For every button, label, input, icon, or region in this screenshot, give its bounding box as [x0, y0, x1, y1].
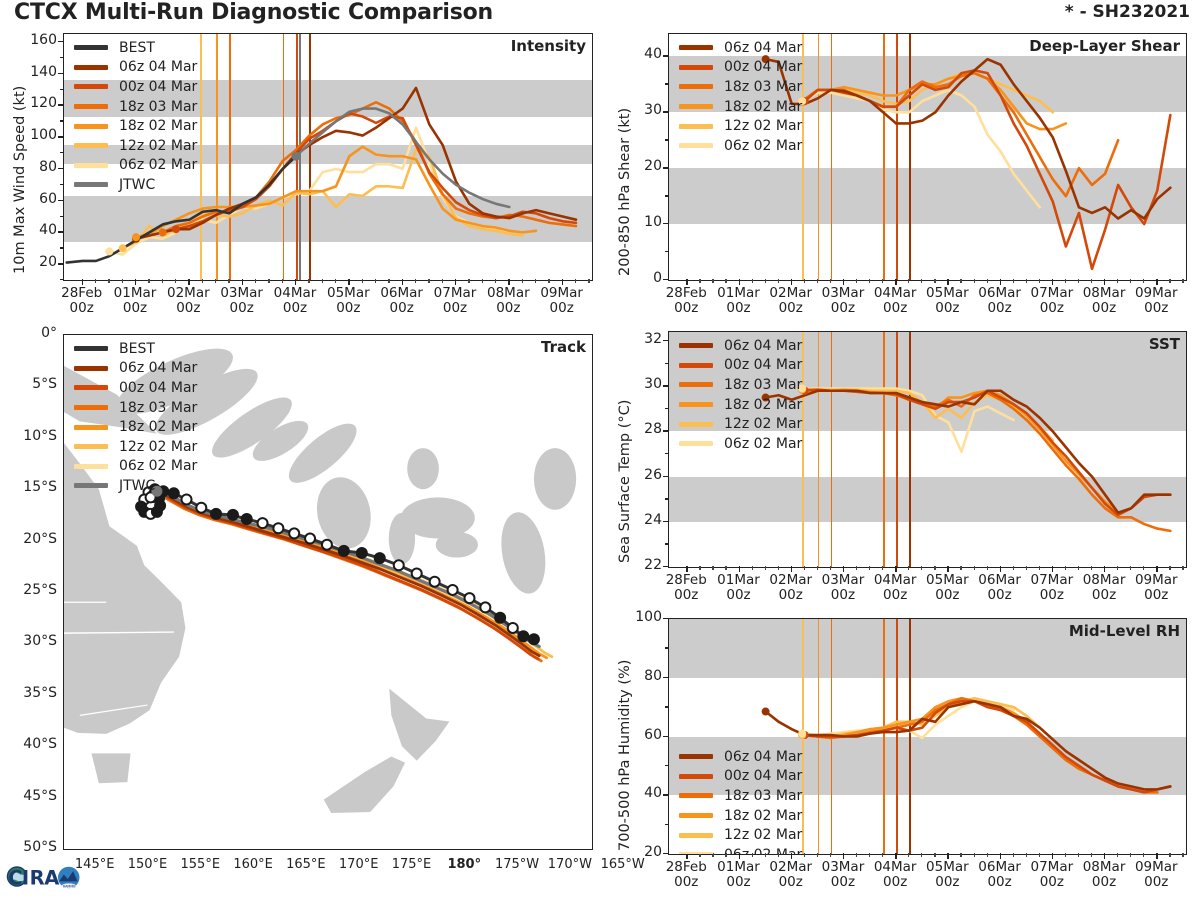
x-minor-tick — [725, 566, 726, 570]
svg-text:R: R — [30, 866, 45, 889]
x-minor-tick — [268, 279, 269, 283]
x-tick-mark — [1052, 566, 1053, 572]
y-tick-mark — [663, 167, 669, 168]
y-tick-label: 26 — [622, 467, 662, 483]
legend-swatch-icon — [679, 143, 713, 148]
x-tick-hour: 00z — [1144, 874, 1168, 890]
legend-item-12z-02-mar[interactable]: 12z 02 Mar — [72, 437, 197, 457]
legend-item-00z-04-mar[interactable]: 00z 04 Mar — [72, 77, 197, 97]
legend-swatch-icon — [74, 346, 108, 351]
x-minor-tick — [856, 853, 857, 857]
x-minor-tick — [1182, 279, 1183, 283]
y-minor-tick — [665, 408, 669, 409]
legend-swatch-icon — [74, 104, 108, 109]
x-minor-tick — [712, 566, 713, 570]
legend-swatch-icon — [679, 754, 713, 759]
y-tick-mark — [58, 73, 64, 74]
panel-shear: Deep-Layer Shear 06z 04 Mar00z 04 Mar18z… — [668, 33, 1187, 281]
x-tick-date: 02Mar — [769, 572, 812, 588]
track-marker — [448, 585, 458, 595]
legend-label: 00z 04 Mar — [119, 380, 197, 396]
x-tick-mark — [242, 279, 243, 285]
x-minor-tick — [535, 279, 536, 283]
series-line — [802, 701, 1014, 738]
x-tick-mark — [739, 566, 740, 572]
x-tick-hour: 00z — [1040, 300, 1064, 316]
x-minor-tick — [1169, 279, 1170, 283]
series-init-marker — [159, 228, 167, 236]
x-minor-tick — [588, 279, 589, 283]
legend-label: 06z 02 Mar — [724, 138, 802, 154]
x-minor-tick — [699, 566, 700, 570]
legend-item-best[interactable]: BEST — [72, 339, 197, 359]
y-minor-tick — [665, 83, 669, 84]
legend-item-18z-02-mar[interactable]: 18z 02 Mar — [677, 806, 802, 826]
track-marker — [228, 510, 238, 520]
track-marker — [339, 546, 349, 556]
x-tick-date: 07Mar — [1031, 572, 1074, 588]
track-y-tick-label: 20°S — [5, 531, 57, 547]
legend-item-18z-03-mar[interactable]: 18z 03 Mar — [72, 398, 197, 418]
x-tick-mark — [1156, 279, 1157, 285]
x-tick-hour: 00z — [779, 300, 803, 316]
x-minor-tick — [725, 279, 726, 283]
x-minor-tick — [1091, 279, 1092, 283]
track-marker — [518, 631, 528, 641]
x-tick-date: 09Mar — [1135, 285, 1178, 301]
svg-text:I: I — [22, 866, 29, 889]
x-minor-tick — [908, 566, 909, 570]
x-tick-mark — [686, 566, 687, 572]
x-tick-mark — [947, 853, 948, 859]
panel-sst: SST 06z 04 Mar00z 04 Mar18z 03 Mar18z 02… — [668, 331, 1187, 568]
legend-label: JTWC — [119, 478, 155, 494]
x-tick-mark — [455, 279, 456, 285]
x-minor-tick — [778, 566, 779, 570]
y-tick-mark — [663, 476, 669, 477]
track-y-tick-label: 10°S — [5, 428, 57, 444]
x-minor-tick — [1026, 853, 1027, 857]
x-tick-date: 09Mar — [540, 285, 583, 301]
y-minor-tick — [60, 216, 64, 217]
y-tick-mark — [58, 104, 64, 105]
x-minor-tick — [1065, 853, 1066, 857]
y-minor-tick — [665, 543, 669, 544]
x-minor-tick — [934, 853, 935, 857]
y-tick-mark — [663, 223, 669, 224]
x-minor-tick — [162, 279, 163, 283]
x-tick-hour: 00z — [1144, 587, 1168, 603]
x-tick-hour: 00z — [390, 300, 414, 316]
y-tick-mark — [663, 736, 669, 737]
y-minor-tick — [665, 251, 669, 252]
legend-label: BEST — [119, 341, 155, 357]
legend-label: 12z 02 Mar — [724, 827, 802, 843]
x-tick-date: 07Mar — [1031, 285, 1074, 301]
track-marker — [412, 569, 422, 579]
legend-label: 12z 02 Mar — [119, 439, 197, 455]
x-tick-mark — [739, 279, 740, 285]
legend-label: 06z 02 Mar — [119, 157, 197, 173]
y-tick-label: 60 — [17, 191, 57, 207]
x-tick-date: 07Mar — [434, 285, 477, 301]
legend-item-12z-02-mar[interactable]: 12z 02 Mar — [72, 136, 197, 156]
x-tick-mark — [791, 566, 792, 572]
x-minor-tick — [1130, 279, 1131, 283]
x-minor-tick — [921, 853, 922, 857]
x-tick-date: 05Mar — [926, 859, 969, 875]
legend-item-06z-02-mar[interactable]: 06z 02 Mar — [677, 845, 802, 855]
y-tick-mark — [663, 853, 669, 854]
x-tick-date: 02Mar — [167, 285, 210, 301]
legend-swatch-icon — [679, 833, 713, 838]
y-tick-label: 120 — [17, 95, 57, 111]
x-tick-hour: 00z — [726, 874, 750, 890]
y-tick-mark — [663, 521, 669, 522]
legend-label: 00z 04 Mar — [119, 79, 197, 95]
legend-item-jtwc[interactable]: JTWC — [72, 175, 197, 195]
y-tick-mark — [663, 430, 669, 431]
legend-swatch-icon — [74, 464, 108, 469]
x-minor-tick — [921, 279, 922, 283]
x-tick-date: 06Mar — [978, 859, 1021, 875]
x-minor-tick — [830, 279, 831, 283]
x-minor-tick — [202, 279, 203, 283]
x-minor-tick — [108, 279, 109, 283]
x-minor-tick — [960, 566, 961, 570]
legend-item-06z-04-mar[interactable]: 06z 04 Mar — [72, 58, 197, 78]
track-y-tick-label: 30°S — [5, 633, 57, 649]
x-minor-tick — [908, 279, 909, 283]
x-tick-hour: 00z — [831, 587, 855, 603]
x-minor-tick — [335, 279, 336, 283]
x-tick-mark — [1000, 853, 1001, 859]
legend-label: 06z 02 Mar — [724, 847, 802, 855]
svg-text:A: A — [44, 866, 60, 889]
x-tick-mark — [295, 279, 296, 285]
y-tick-label: 20 — [622, 158, 662, 174]
x-minor-tick — [712, 279, 713, 283]
x-tick-hour: 00z — [336, 300, 360, 316]
x-tick-date: 01Mar — [114, 285, 157, 301]
x-tick-hour: 00z — [935, 300, 959, 316]
sst-panel-title: SST — [1149, 335, 1180, 353]
track-marker — [242, 514, 252, 524]
legend-label: 18z 03 Mar — [119, 99, 197, 115]
track-y-tick-label: 50°S — [5, 839, 57, 855]
x-tick-hour: 00z — [935, 874, 959, 890]
x-tick-date: 08Mar — [1083, 285, 1126, 301]
y-tick-label: 32 — [622, 331, 662, 347]
x-minor-tick — [882, 566, 883, 570]
track-marker — [273, 523, 283, 533]
legend-swatch-icon — [74, 65, 108, 70]
y-minor-tick — [665, 453, 669, 454]
x-tick-hour: 00z — [1092, 874, 1116, 890]
x-tick-mark — [1104, 279, 1105, 285]
x-tick-hour: 00z — [726, 300, 750, 316]
x-minor-tick — [1143, 853, 1144, 857]
x-tick-hour: 00z — [987, 874, 1011, 890]
x-tick-hour: 00z — [550, 300, 574, 316]
x-tick-hour: 00z — [779, 874, 803, 890]
x-minor-tick — [1013, 566, 1014, 570]
track-y-tick-label: 5°S — [5, 376, 57, 392]
track-y-tick-label: 40°S — [5, 736, 57, 752]
y-minor-tick — [665, 195, 669, 196]
legend-swatch-icon — [679, 84, 713, 89]
legend-label: 06z 02 Mar — [724, 436, 802, 452]
track-x-tick-label: 165°W — [591, 857, 655, 872]
legend-item-00z-04-mar[interactable]: 00z 04 Mar — [72, 378, 197, 398]
x-minor-tick — [1039, 566, 1040, 570]
y-tick-mark — [663, 279, 669, 280]
y-minor-tick — [60, 57, 64, 58]
y-minor-tick — [665, 824, 669, 825]
legend-label: 18z 02 Mar — [724, 397, 802, 413]
legend-item-18z-03-mar[interactable]: 18z 03 Mar — [72, 97, 197, 117]
legend-item-06z-04-mar[interactable]: 06z 04 Mar — [72, 359, 197, 379]
x-tick-hour: 00z — [674, 300, 698, 316]
legend-item-best[interactable]: BEST — [72, 38, 197, 58]
x-minor-tick — [415, 279, 416, 283]
legend-item-06z-02-mar[interactable]: 06z 02 Mar — [677, 434, 802, 454]
x-tick-label: 09Mar00z — [1122, 860, 1190, 890]
rh-y-axis-label: 700-500 hPa Humidity (%) — [617, 660, 633, 851]
x-tick-mark — [1052, 279, 1053, 285]
track-marker — [495, 613, 505, 623]
x-minor-tick — [575, 279, 576, 283]
storm-id-label: * - SH232021 — [1065, 2, 1190, 22]
x-tick-date: 04Mar — [874, 859, 917, 875]
y-tick-label: 24 — [622, 512, 662, 528]
x-tick-date: 08Mar — [1083, 572, 1126, 588]
y-tick-mark — [58, 231, 64, 232]
legend-item-00z-04-mar[interactable]: 00z 04 Mar — [677, 356, 802, 376]
track-marker — [258, 518, 268, 528]
intensity-panel-title: Intensity — [511, 37, 586, 55]
legend-item-12z-02-mar[interactable]: 12z 02 Mar — [677, 116, 802, 136]
x-tick-mark — [947, 566, 948, 572]
x-tick-hour: 00z — [230, 300, 254, 316]
series-init-marker — [762, 708, 770, 716]
track-legend: BEST06z 04 Mar00z 04 Mar18z 03 Mar18z 02… — [72, 339, 197, 496]
series-line — [802, 698, 1118, 786]
x-minor-tick — [1130, 566, 1131, 570]
x-minor-tick — [1026, 566, 1027, 570]
series-init-marker — [132, 233, 140, 241]
legend-item-06z-02-mar[interactable]: 06z 02 Mar — [72, 457, 197, 477]
track-marker — [305, 534, 315, 544]
x-tick-date: 28Feb — [61, 285, 102, 301]
x-tick-hour: 00z — [726, 587, 750, 603]
y-minor-tick — [665, 139, 669, 140]
legend-swatch-icon — [74, 45, 108, 50]
x-minor-tick — [869, 853, 870, 857]
legend-label: 12z 02 Mar — [724, 416, 802, 432]
legend-item-18z-02-mar[interactable]: 18z 02 Mar — [72, 417, 197, 437]
legend-swatch-icon — [74, 405, 108, 410]
legend-swatch-icon — [74, 444, 108, 449]
legend-label: 00z 04 Mar — [724, 59, 802, 75]
y-tick-label: 100 — [17, 127, 57, 143]
legend-swatch-icon — [74, 425, 108, 430]
x-tick-mark — [843, 279, 844, 285]
track-y-tick-label: 35°S — [5, 685, 57, 701]
x-minor-tick — [1091, 566, 1092, 570]
legend-label: 18z 02 Mar — [724, 808, 802, 824]
legend-label: 12z 02 Mar — [724, 118, 802, 134]
x-minor-tick — [1117, 279, 1118, 283]
x-tick-date: 04Mar — [274, 285, 317, 301]
legend-item-06z-04-mar[interactable]: 06z 04 Mar — [677, 38, 802, 58]
x-minor-tick — [960, 279, 961, 283]
legend-item-06z-04-mar[interactable]: 06z 04 Mar — [677, 336, 802, 356]
y-minor-tick — [665, 498, 669, 499]
x-tick-mark — [1156, 566, 1157, 572]
legend-item-00z-04-mar[interactable]: 00z 04 Mar — [677, 767, 802, 787]
x-minor-tick — [974, 853, 975, 857]
x-minor-tick — [495, 279, 496, 283]
legend-label: 18z 02 Mar — [119, 118, 197, 134]
legend-item-06z-02-mar[interactable]: 06z 02 Mar — [72, 156, 197, 176]
legend-item-18z-02-mar[interactable]: 18z 02 Mar — [677, 97, 802, 117]
y-tick-mark — [663, 55, 669, 56]
x-tick-mark — [686, 279, 687, 285]
legend-label: 18z 02 Mar — [724, 99, 802, 115]
x-minor-tick — [428, 279, 429, 283]
x-tick-mark — [1052, 853, 1053, 859]
x-tick-hour: 00z — [1040, 587, 1064, 603]
panel-rh: Mid-Level RH 06z 04 Mar00z 04 Mar18z 03 … — [668, 618, 1187, 855]
legend-swatch-icon — [74, 84, 108, 89]
x-minor-tick — [987, 279, 988, 283]
legend-swatch-icon — [679, 45, 713, 50]
track-y-tick-label: 45°S — [5, 788, 57, 804]
legend-item-12z-02-mar[interactable]: 12z 02 Mar — [677, 825, 802, 845]
x-tick-hour: 00z — [883, 587, 907, 603]
x-tick-date: 05Mar — [327, 285, 370, 301]
panel-track: Track BEST06z 04 Mar00z 04 Mar18z 03 Mar… — [63, 334, 593, 850]
x-minor-tick — [148, 279, 149, 283]
y-tick-label: 28 — [622, 421, 662, 437]
shear-panel-title: Deep-Layer Shear — [1029, 37, 1180, 55]
x-minor-tick — [817, 853, 818, 857]
x-minor-tick — [1039, 853, 1040, 857]
x-tick-date: 01Mar — [717, 285, 760, 301]
y-tick-mark — [663, 618, 669, 619]
x-tick-mark — [1104, 566, 1105, 572]
x-tick-mark — [562, 279, 563, 285]
y-tick-label: 60 — [622, 727, 662, 743]
x-minor-tick — [856, 566, 857, 570]
x-minor-tick — [752, 279, 753, 283]
y-minor-tick — [60, 247, 64, 248]
legend-item-18z-03-mar[interactable]: 18z 03 Mar — [677, 77, 802, 97]
legend-item-18z-03-mar[interactable]: 18z 03 Mar — [677, 786, 802, 806]
y-tick-mark — [663, 566, 669, 567]
legend-item-jtwc[interactable]: JTWC — [72, 476, 197, 496]
y-tick-label: 30 — [622, 102, 662, 118]
x-minor-tick — [1143, 279, 1144, 283]
legend-swatch-icon — [679, 343, 713, 348]
x-minor-tick — [804, 853, 805, 857]
y-tick-mark — [58, 41, 64, 42]
x-tick-mark — [188, 279, 189, 285]
x-minor-tick — [1169, 566, 1170, 570]
shear-legend: 06z 04 Mar00z 04 Mar18z 03 Mar18z 02 Mar… — [677, 38, 802, 156]
series-line — [805, 701, 1171, 792]
x-tick-label: 09Mar00z — [1122, 286, 1190, 316]
legend-swatch-icon — [679, 852, 713, 855]
y-minor-tick — [665, 363, 669, 364]
legend-item-00z-04-mar[interactable]: 00z 04 Mar — [677, 58, 802, 78]
legend-label: 18z 03 Mar — [119, 400, 197, 416]
legend-label: 00z 04 Mar — [724, 768, 802, 784]
x-minor-tick — [1065, 279, 1066, 283]
legend-swatch-icon — [74, 124, 108, 129]
x-tick-date: 04Mar — [874, 572, 917, 588]
legend-label: 00z 04 Mar — [724, 357, 802, 373]
legend-swatch-icon — [679, 793, 713, 798]
x-tick-mark — [947, 279, 948, 285]
y-minor-tick — [60, 184, 64, 185]
legend-item-12z-02-mar[interactable]: 12z 02 Mar — [677, 414, 802, 434]
x-minor-tick — [1065, 566, 1066, 570]
legend-label: 12z 02 Mar — [119, 138, 197, 154]
cira-logo-icon: C I R A RAMMB — [4, 856, 112, 898]
y-minor-tick — [60, 152, 64, 153]
x-tick-date: 28Feb — [666, 572, 707, 588]
track-marker — [508, 623, 518, 633]
x-tick-hour: 00z — [1092, 300, 1116, 316]
x-minor-tick — [1078, 279, 1079, 283]
x-minor-tick — [804, 279, 805, 283]
x-minor-tick — [468, 279, 469, 283]
x-tick-date: 07Mar — [1031, 859, 1074, 875]
y-tick-mark — [58, 136, 64, 137]
x-tick-mark — [1000, 566, 1001, 572]
y-tick-label: 10 — [622, 214, 662, 230]
legend-item-06z-02-mar[interactable]: 06z 02 Mar — [677, 136, 802, 156]
legend-swatch-icon — [74, 143, 108, 148]
x-minor-tick — [869, 279, 870, 283]
track-marker — [430, 577, 440, 587]
legend-item-18z-02-mar[interactable]: 18z 02 Mar — [72, 116, 197, 136]
x-tick-mark — [895, 279, 896, 285]
x-minor-tick — [1078, 853, 1079, 857]
x-tick-hour: 00z — [123, 300, 147, 316]
x-tick-mark — [82, 279, 83, 285]
legend-label: 18z 03 Mar — [724, 377, 802, 393]
legend-item-18z-03-mar[interactable]: 18z 03 Mar — [677, 375, 802, 395]
y-tick-mark — [663, 794, 669, 795]
track-marker — [465, 593, 475, 603]
x-minor-tick — [1169, 853, 1170, 857]
y-tick-label: 140 — [17, 64, 57, 80]
series-line — [766, 59, 1171, 218]
jtwc-init-marker — [292, 152, 301, 161]
x-minor-tick — [482, 279, 483, 283]
x-tick-hour: 00z — [283, 300, 307, 316]
x-tick-mark — [843, 853, 844, 859]
x-minor-tick — [882, 279, 883, 283]
legend-item-06z-04-mar[interactable]: 06z 04 Mar — [677, 747, 802, 767]
track-y-tick-label: 25°S — [5, 582, 57, 598]
x-minor-tick — [699, 279, 700, 283]
legend-item-18z-02-mar[interactable]: 18z 02 Mar — [677, 395, 802, 415]
x-minor-tick — [1013, 279, 1014, 283]
